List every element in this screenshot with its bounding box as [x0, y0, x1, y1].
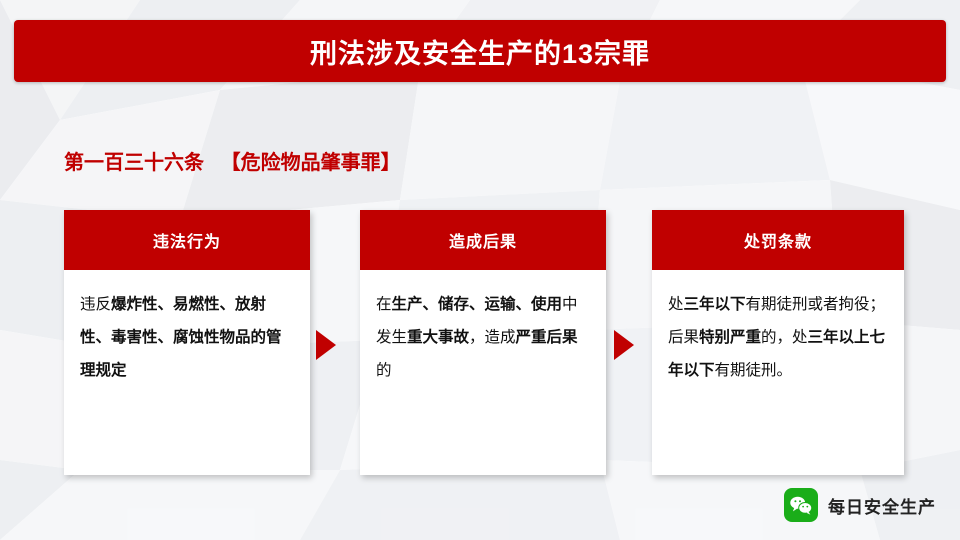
card-penalty: 处罚条款 处三年以下有期徒刑或者拘役；后果特别严重的，处三年以上七年以下有期徒刑… [652, 210, 904, 475]
slide-title-bar: 刑法涉及安全生产的13宗罪 [14, 20, 946, 82]
card-violation: 违法行为 违反爆炸性、易燃性、放射性、毒害性、腐蚀性物品的管理规定 [64, 210, 310, 475]
article-heading: 第一百三十六条 【危险物品肇事罪】 [64, 146, 401, 175]
wechat-account-name: 每日安全生产 [828, 493, 936, 518]
card-penalty-header-label: 处罚条款 [744, 228, 812, 252]
card-consequence-header: 造成后果 [360, 210, 606, 270]
card-penalty-header: 处罚条款 [652, 210, 904, 270]
card-violation-body: 违反爆炸性、易燃性、放射性、毒害性、腐蚀性物品的管理规定 [64, 270, 310, 387]
card-consequence-body: 在生产、储存、运输、使用中发生重大事故，造成严重后果的 [360, 270, 606, 387]
arrow-right-icon-2 [614, 330, 634, 360]
card-penalty-body: 处三年以下有期徒刑或者拘役；后果特别严重的，处三年以上七年以下有期徒刑。 [652, 270, 904, 387]
page-title: 刑法涉及安全生产的13宗罪 [310, 32, 650, 71]
card-violation-header: 违法行为 [64, 210, 310, 270]
wechat-account-badge: 每日安全生产 [784, 488, 936, 522]
wechat-icon [784, 488, 818, 522]
slide-root: 刑法涉及安全生产的13宗罪 第一百三十六条 【危险物品肇事罪】 违法行为 违反爆… [0, 0, 960, 540]
card-consequence-header-label: 造成后果 [449, 228, 517, 252]
card-violation-header-label: 违法行为 [153, 228, 221, 252]
arrow-right-icon-1 [316, 330, 336, 360]
card-consequence: 造成后果 在生产、储存、运输、使用中发生重大事故，造成严重后果的 [360, 210, 606, 475]
